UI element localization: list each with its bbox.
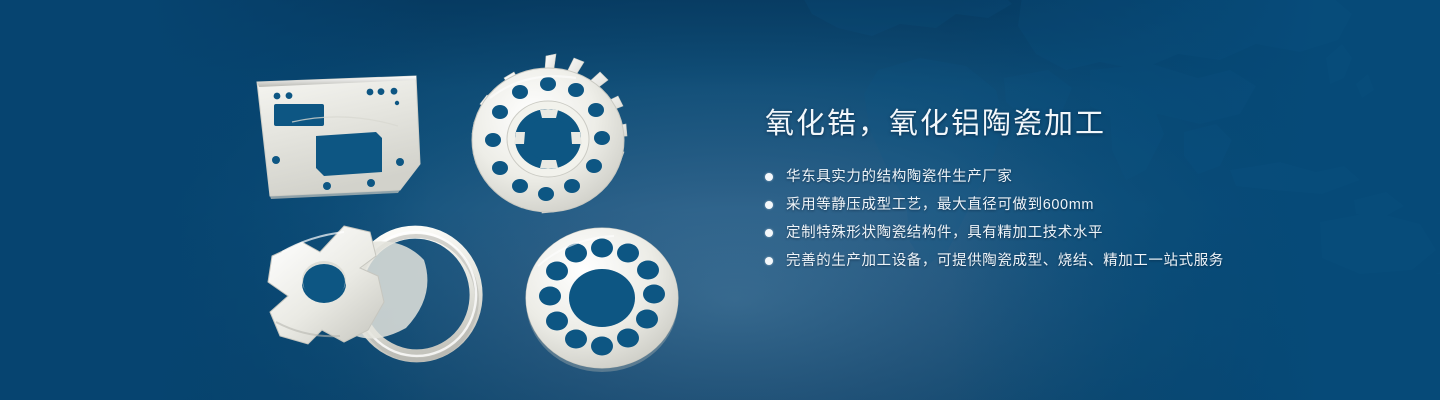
product-ceramic-plate [248, 72, 428, 200]
feature-text: 完善的生产加工设备，可提供陶瓷成型、烧结、精加工一站式服务 [786, 252, 1224, 270]
feature-list: 华东具实力的结构陶瓷件生产厂家 采用等静压成型工艺，最大直径可做到600mm 定… [765, 168, 1405, 270]
list-item: 完善的生产加工设备，可提供陶瓷成型、烧结、精加工一站式服务 [765, 252, 1405, 270]
bullet-dot-icon [765, 229, 773, 237]
bullet-dot-icon [765, 173, 773, 181]
product-ceramic-impeller [448, 48, 648, 228]
product-ceramic-hole-ring [518, 222, 686, 374]
list-item: 华东具实力的结构陶瓷件生产厂家 [765, 168, 1405, 186]
feature-text: 定制特殊形状陶瓷结构件，具有精加工技术水平 [786, 224, 1103, 242]
hero-banner: 氧化锆，氧化铝陶瓷加工 华东具实力的结构陶瓷件生产厂家 采用等静压成型工艺，最大… [0, 0, 1440, 400]
product-photo-group [0, 0, 760, 400]
bullet-dot-icon [765, 201, 773, 209]
list-item: 定制特殊形状陶瓷结构件，具有精加工技术水平 [765, 224, 1405, 242]
feature-text: 采用等静压成型工艺，最大直径可做到600mm [786, 196, 1094, 214]
list-item: 采用等静压成型工艺，最大直径可做到600mm [765, 196, 1405, 214]
feature-text: 华东具实力的结构陶瓷件生产厂家 [786, 168, 1013, 186]
bullet-dot-icon [765, 257, 773, 265]
banner-copy: 氧化锆，氧化铝陶瓷加工 华东具实力的结构陶瓷件生产厂家 采用等静压成型工艺，最大… [765, 104, 1405, 280]
banner-headline: 氧化锆，氧化铝陶瓷加工 [765, 104, 1405, 144]
product-ceramic-cross-and-ring [248, 218, 518, 368]
